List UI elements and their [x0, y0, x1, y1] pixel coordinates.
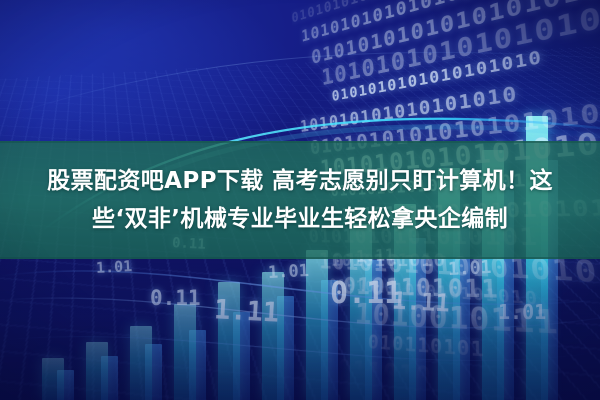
vignette-overlay	[0, 0, 600, 400]
banner-image: 0101010101010101010110101010101010101010…	[0, 0, 600, 400]
